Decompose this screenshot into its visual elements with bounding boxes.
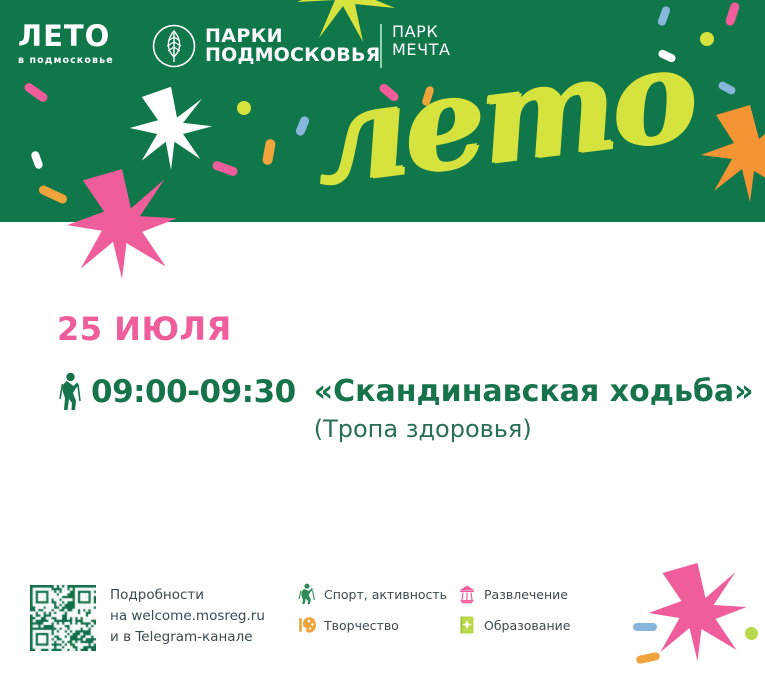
event-title: «Скандинавская ходьба»	[314, 372, 754, 412]
legend-item-sport: Спорт, активность	[297, 583, 457, 605]
event-row: 09:00-09:30 «Скандинавская ходьба» (Троп…	[57, 372, 753, 444]
star-white-icon	[128, 85, 214, 171]
legend-label-creativity: Творчество	[324, 618, 399, 633]
event-poster: ЛЕТО в подмосковье ПАРКИ ПОДМОСКОВЬЯ ПАР…	[0, 0, 765, 675]
details-line-2: на welcome.mosreg.ru	[110, 606, 265, 627]
brand-leto-sub: в подмосковье	[18, 55, 114, 66]
legend-item-creativity: Творчество	[297, 614, 457, 636]
logo-divider	[380, 24, 382, 68]
details-text: Подробности на welcome.mosreg.ru и в Tel…	[110, 585, 265, 648]
confetti-stick-pink-2	[211, 160, 239, 177]
brand-parki-line2: ПОДМОСКОВЬЯ	[205, 46, 380, 65]
legend-label-entertainment: Развлечение	[484, 587, 568, 602]
legend-label-sport: Спорт, активность	[324, 587, 447, 602]
details-line-1: Подробности	[110, 585, 265, 606]
brand-park-line2: МЕЧТА	[392, 41, 451, 59]
details-line-3: и в Telegram-канале	[110, 627, 265, 648]
confetti-dot-yellow-1	[237, 101, 251, 115]
event-time: 09:00-09:30	[91, 372, 296, 412]
brand-leto: ЛЕТО в подмосковье	[18, 22, 114, 66]
brand-park-mechta: ПАРК МЕЧТА	[392, 23, 451, 59]
star-pink-left-icon	[62, 168, 182, 280]
confetti-stick-orange-2	[262, 138, 276, 165]
legend-row-2: Творчество Образование	[297, 614, 597, 636]
legend: Спорт, активность Развлечение	[297, 583, 597, 645]
confetti-stick-blue-1	[295, 115, 311, 137]
legend-item-entertainment: Развлечение	[457, 583, 568, 605]
footer: Подробности на welcome.mosreg.ru и в Tel…	[0, 580, 765, 675]
brand-leto-main: ЛЕТО	[18, 22, 114, 51]
leaf-emblem-icon	[152, 24, 196, 68]
palette-icon	[297, 614, 317, 636]
confetti-stick-white-1	[30, 150, 44, 170]
legend-item-education: Образование	[457, 614, 570, 636]
brand-park-line1: ПАРК	[392, 23, 451, 41]
sport-walker-icon	[297, 583, 317, 605]
event-place: (Тропа здоровья)	[314, 414, 754, 444]
star-orange-icon	[700, 98, 765, 208]
logo-row: ЛЕТО в подмосковье ПАРКИ ПОДМОСКОВЬЯ ПАР…	[0, 0, 765, 90]
legend-row-1: Спорт, активность Развлечение	[297, 583, 597, 605]
legend-label-education: Образование	[484, 618, 570, 633]
nordic-walking-icon	[57, 372, 83, 412]
event-date: 25 ИЮЛЯ	[57, 310, 232, 348]
book-icon	[457, 614, 477, 636]
brand-parki: ПАРКИ ПОДМОСКОВЬЯ	[152, 24, 380, 68]
carousel-icon	[457, 583, 477, 605]
qr-code[interactable]	[30, 585, 96, 651]
